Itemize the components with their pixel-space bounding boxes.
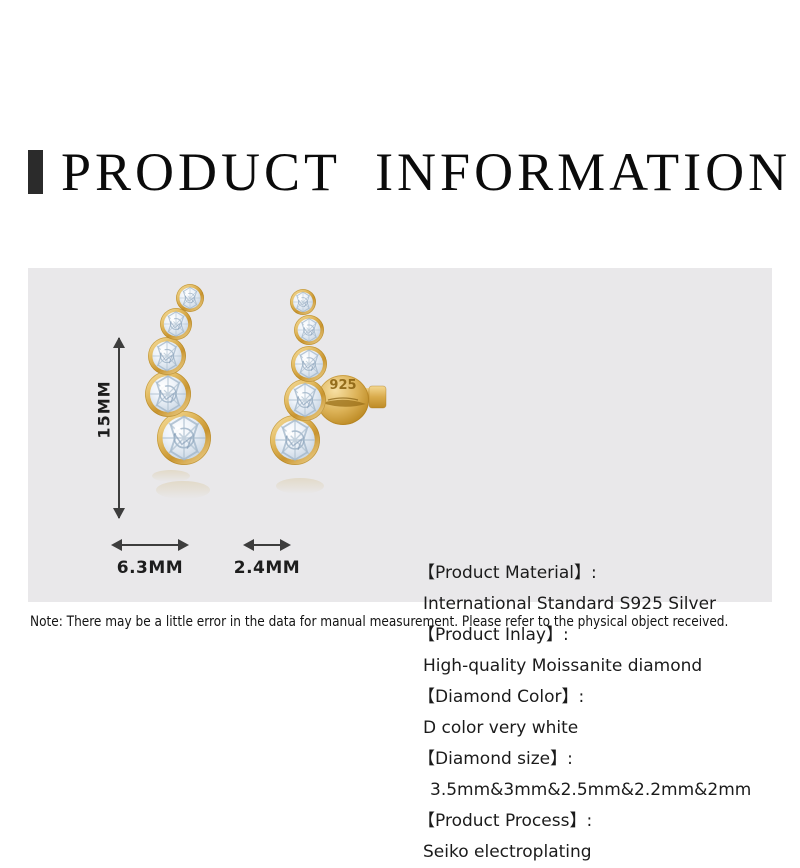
dimension-side-width: 2.4MM	[244, 536, 290, 582]
dimension-height: 15MM	[85, 338, 131, 518]
stone-smallest	[290, 289, 316, 315]
dimension-height-label: 15MM	[95, 373, 114, 447]
measurement-note: Note: There may be a little error in the…	[30, 612, 724, 632]
title-accent-bar	[28, 150, 43, 194]
dimension-front-width: 6.3MM	[112, 536, 188, 582]
spec-key-diamond-size: 【Diamond size】:	[418, 744, 800, 775]
dimension-side-width-label: 2.4MM	[234, 558, 300, 578]
product-photo: 925	[28, 268, 388, 602]
spec-key-product-process: 【Product Process】:	[418, 806, 800, 837]
stone-smallest	[176, 284, 204, 312]
stone-small	[294, 315, 324, 345]
earring-front-view	[145, 284, 211, 499]
stone-small	[160, 308, 192, 340]
spec-value-diamond-color: D color very white	[418, 713, 800, 744]
dimension-front-width-line	[120, 544, 180, 546]
arrow-right-icon	[178, 539, 189, 551]
arrow-right-icon	[280, 539, 291, 551]
page-title-text: PRODUCT INFORMATION	[61, 144, 791, 200]
page-title: PRODUCT INFORMATION	[28, 144, 791, 200]
stone-medium	[291, 346, 327, 382]
spec-value-diamond-size: 3.5mm&3mm&2.5mm&2.2mm&2mm	[418, 775, 800, 806]
stone-medium-large	[145, 371, 191, 417]
stone-large	[157, 411, 211, 465]
earring-illustration: 925	[28, 268, 388, 602]
earring-side-view: 925	[270, 289, 386, 494]
spec-list: 【Product Material】: International Standa…	[418, 558, 800, 868]
spec-value-product-inlay: High-quality Moissanite diamond	[418, 651, 800, 682]
arrow-left-icon	[111, 539, 122, 551]
spec-value-product-process: Seiko electroplating	[418, 837, 800, 868]
dimension-side-width-line	[252, 544, 282, 546]
arrow-down-icon	[113, 508, 125, 519]
stone-large	[270, 415, 320, 465]
spec-key-diamond-color: 【Diamond Color】:	[418, 682, 800, 713]
arrow-up-icon	[113, 337, 125, 348]
arrow-left-icon	[243, 539, 254, 551]
spec-key-product-material: 【Product Material】:	[418, 558, 800, 589]
silver-stamp-925: 925	[329, 378, 356, 393]
dimension-front-width-label: 6.3MM	[117, 558, 183, 578]
stone-medium-large	[284, 379, 326, 421]
stone-medium	[148, 337, 186, 375]
earring-clutch-925: 925	[317, 375, 386, 425]
dimension-height-line	[118, 338, 120, 518]
